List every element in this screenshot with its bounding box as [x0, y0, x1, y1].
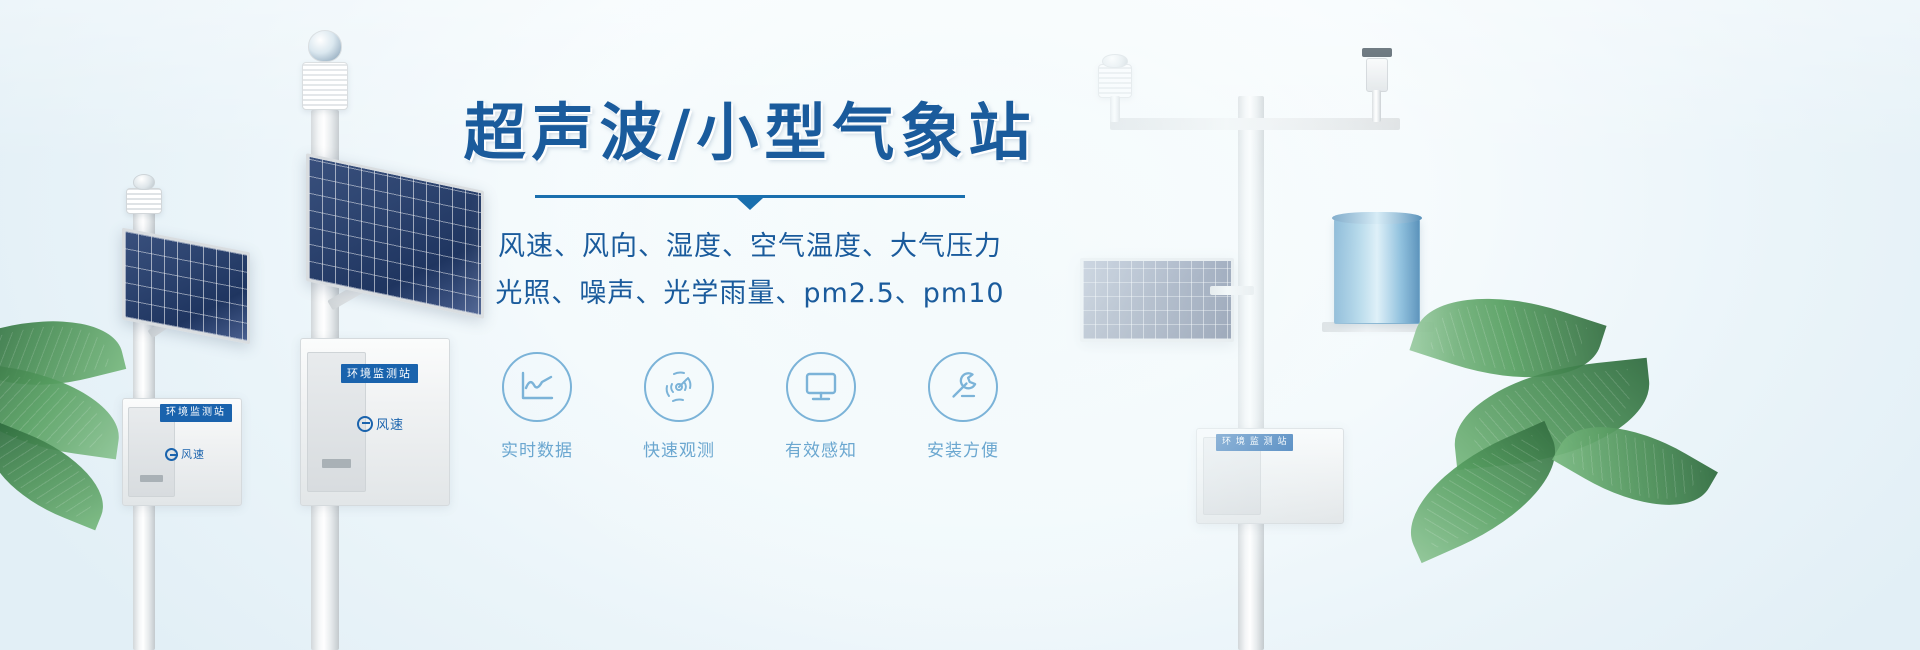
wrench-icon [944, 368, 982, 406]
product-banner: 环境监测站 风速 环境监测站 风速 [0, 0, 1920, 650]
banner-headline: 超声波/小型气象站 [430, 96, 1070, 169]
feature-label: 有效感知 [769, 436, 873, 461]
wind-vane-body-right [1366, 58, 1388, 92]
cabinet-label-right: 环 境 监 测 站 [1216, 434, 1293, 451]
ultrasonic-stem-right [1110, 96, 1120, 122]
cabinet-label-left: 环境监测站 [160, 404, 232, 422]
feature-item-easy-install[interactable]: 安装方便 [911, 352, 1015, 461]
rain-gauge-right [1334, 218, 1420, 324]
feature-icon-circle [644, 352, 714, 422]
brand-mark-left: 风速 [165, 446, 205, 462]
brand-mark-center: 风速 [357, 414, 404, 433]
feature-label: 快速观测 [627, 436, 731, 461]
feature-icon-circle [928, 352, 998, 422]
cabinet-vent-left [140, 475, 164, 481]
wind-vane-fin-right [1362, 48, 1392, 57]
ultrasonic-sensor-right [1098, 64, 1132, 98]
radiation-shield-left [126, 188, 162, 214]
title-divider [535, 191, 965, 207]
brand-text-left: 风速 [181, 446, 205, 462]
feature-label: 安装方便 [911, 436, 1015, 461]
feature-item-fast-observation[interactable]: 快速观测 [627, 352, 731, 461]
panel-brace-right [1210, 286, 1254, 295]
monitor-screen-icon [802, 371, 840, 403]
feature-item-effective-sensing[interactable]: 有效感知 [769, 352, 873, 461]
feature-list: 实时数据 快速观测 [430, 352, 1070, 461]
solar-panel-right [1080, 258, 1234, 342]
brand-logo-icon-center [357, 416, 373, 432]
brand-text-center: 风速 [376, 414, 404, 433]
feature-icon-circle [786, 352, 856, 422]
brand-logo-icon-left [165, 448, 178, 461]
feature-icon-circle [502, 352, 572, 422]
sensor-dome-center [308, 30, 342, 62]
sensor-dome-left [133, 174, 155, 190]
station-pole-right [1238, 96, 1264, 650]
cabinet-label-center: 环境监测站 [341, 364, 418, 383]
line-chart-icon [518, 370, 556, 404]
cross-arm-right [1110, 118, 1400, 130]
subtitle-line-1: 风速、风向、湿度、空气温度、大气压力 [430, 223, 1070, 270]
banner-content: 超声波/小型气象站 风速、风向、湿度、空气温度、大气压力 光照、噪声、光学雨量、… [430, 96, 1070, 461]
radiation-shield-center [302, 62, 348, 110]
ultrasonic-dome-right [1102, 54, 1128, 68]
divider-triangle-icon [737, 198, 763, 210]
feature-item-realtime-data[interactable]: 实时数据 [485, 352, 589, 461]
cabinet-vent-center [322, 459, 352, 469]
feature-label: 实时数据 [485, 436, 589, 461]
radar-signal-icon [660, 368, 698, 406]
subtitle-line-2: 光照、噪声、光学雨量、pm2.5、pm10 [430, 270, 1070, 317]
wind-vane-stem-right [1372, 90, 1381, 122]
